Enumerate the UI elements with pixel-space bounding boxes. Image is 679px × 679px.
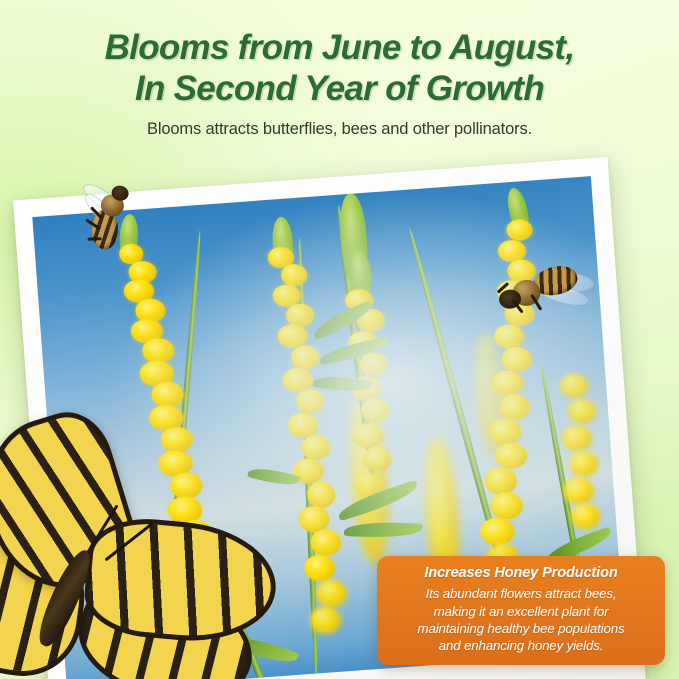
tiger-swallowtail-butterfly	[0, 418, 266, 679]
page-title-line-1: Blooms from June to August,	[0, 28, 679, 69]
callout-body: Its abundant flowers attract bees, makin…	[389, 585, 653, 654]
honey-production-callout: Increases Honey Production Its abundant …	[377, 556, 665, 665]
callout-line-2: making it an excellent plant for	[389, 603, 653, 620]
callout-line-3: maintaining healthy bee populations	[389, 620, 653, 637]
callout-line-4: and enhancing honey yields.	[389, 637, 653, 654]
poster-canvas: Blooms from June to August, In Second Ye…	[0, 0, 679, 679]
page-title-line-2: In Second Year of Growth	[0, 69, 679, 110]
callout-title: Increases Honey Production	[389, 565, 653, 582]
clover-leaf	[344, 521, 422, 538]
honeybee-right	[494, 261, 596, 333]
butterfly-wing	[81, 514, 281, 648]
callout-line-1: Its abundant flowers attract bees,	[389, 585, 653, 602]
page-subtitle: Blooms attracts butterflies, bees and ot…	[0, 120, 679, 139]
header: Blooms from June to August, In Second Ye…	[0, 0, 679, 139]
